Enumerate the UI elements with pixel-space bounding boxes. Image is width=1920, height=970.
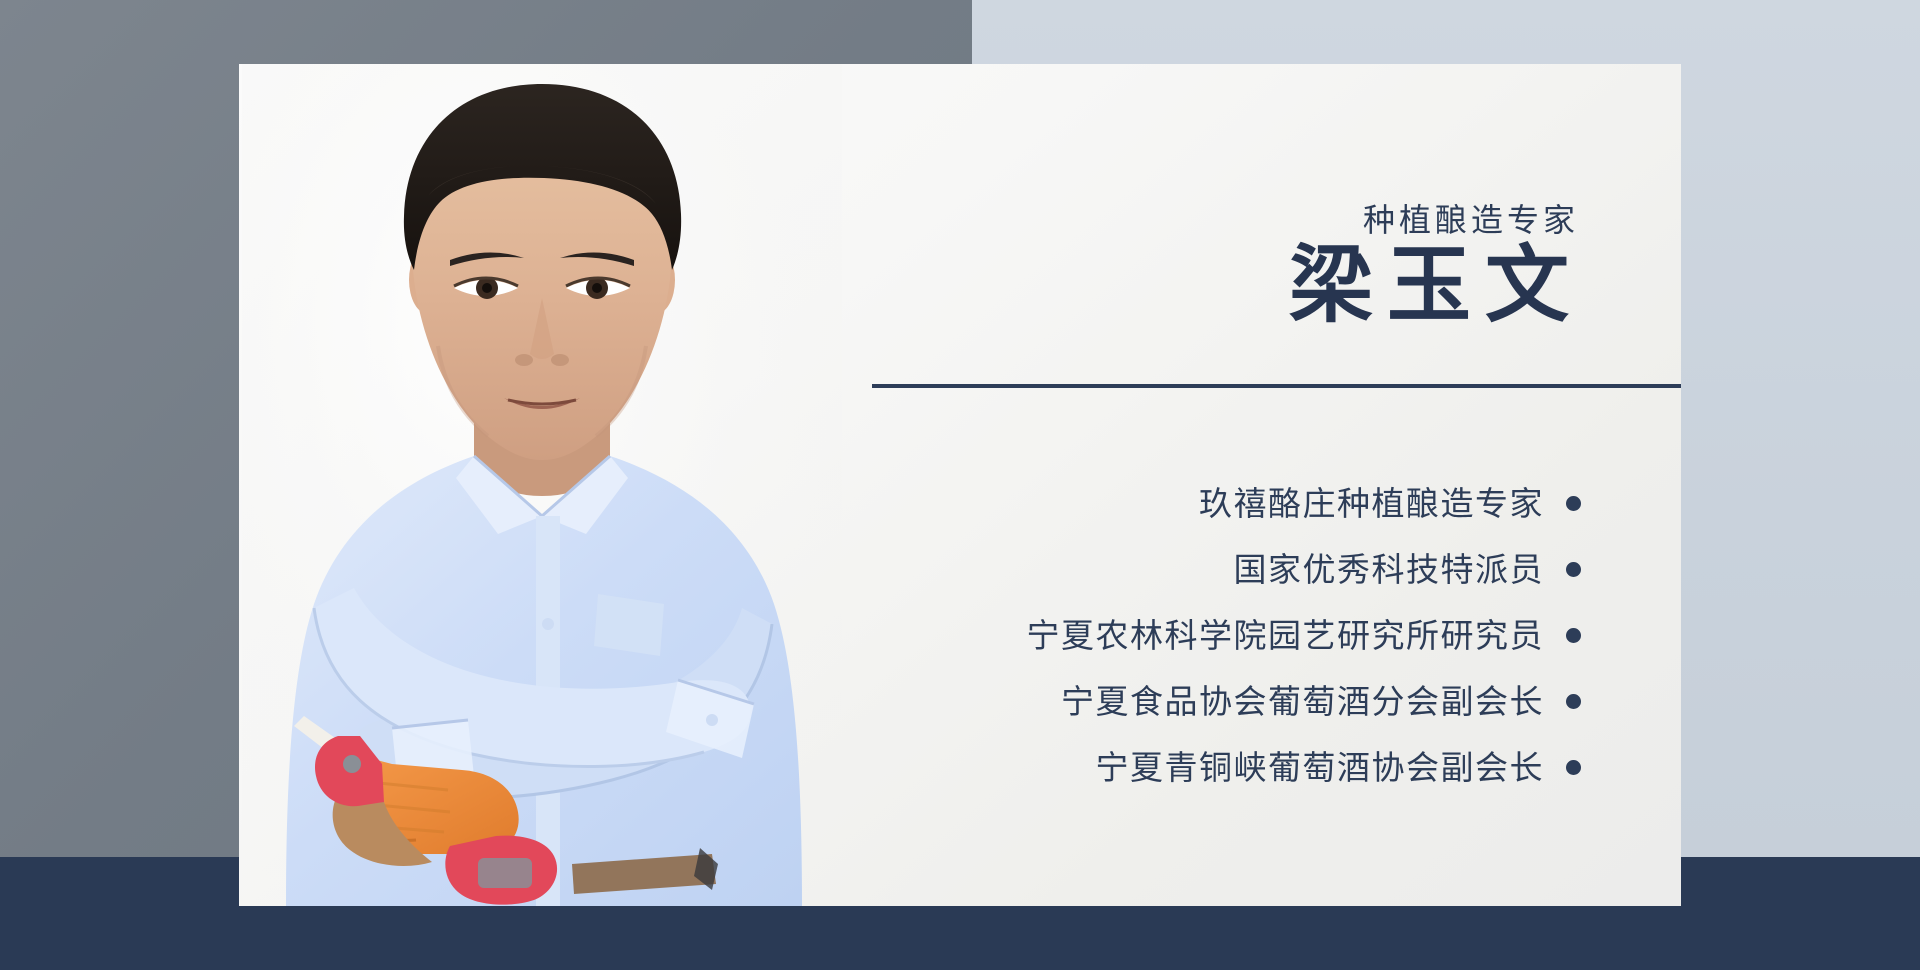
profile-eyebrow: 种植酿造专家: [1363, 195, 1579, 241]
list-item: 宁夏食品协会葡萄酒分会副会长: [1027, 680, 1582, 722]
credential-label: 玖禧酪庄种植酿造专家: [1199, 487, 1544, 520]
list-item: 国家优秀科技特派员: [1027, 548, 1582, 590]
bullet-dot-icon: [1566, 562, 1581, 577]
bullet-dot-icon: [1566, 496, 1581, 511]
credential-label: 宁夏食品协会葡萄酒分会副会长: [1061, 685, 1544, 718]
credential-label: 国家优秀科技特派员: [1234, 553, 1545, 586]
title-divider: [872, 384, 1681, 388]
list-item: 玖禧酪庄种植酿造专家: [1027, 482, 1582, 524]
page-title: 梁玉文: [1275, 245, 1583, 329]
credential-label: 宁夏青铜峡葡萄酒协会副会长: [1096, 751, 1545, 784]
list-item: 宁夏农林科学院园艺研究所研究员: [1027, 614, 1582, 656]
profile-banner: 种植酿造专家 梁玉文 玖禧酪庄种植酿造专家 国家优秀科技特派员 宁夏农林科学院园…: [0, 0, 1920, 970]
list-item: 宁夏青铜峡葡萄酒协会副会长: [1027, 746, 1582, 788]
bullet-dot-icon: [1566, 694, 1581, 709]
profile-card: 种植酿造专家 梁玉文 玖禧酪庄种植酿造专家 国家优秀科技特派员 宁夏农林科学院园…: [239, 64, 1681, 906]
bullet-dot-icon: [1566, 628, 1581, 643]
bullet-dot-icon: [1566, 760, 1581, 775]
credential-label: 宁夏农林科学院园艺研究所研究员: [1027, 619, 1545, 652]
profile-info-column: 种植酿造专家 梁玉文 玖禧酪庄种植酿造专家 国家优秀科技特派员 宁夏农林科学院园…: [639, 64, 1651, 906]
credential-list: 玖禧酪庄种植酿造专家 国家优秀科技特派员 宁夏农林科学院园艺研究所研究员 宁夏食…: [1027, 482, 1582, 788]
